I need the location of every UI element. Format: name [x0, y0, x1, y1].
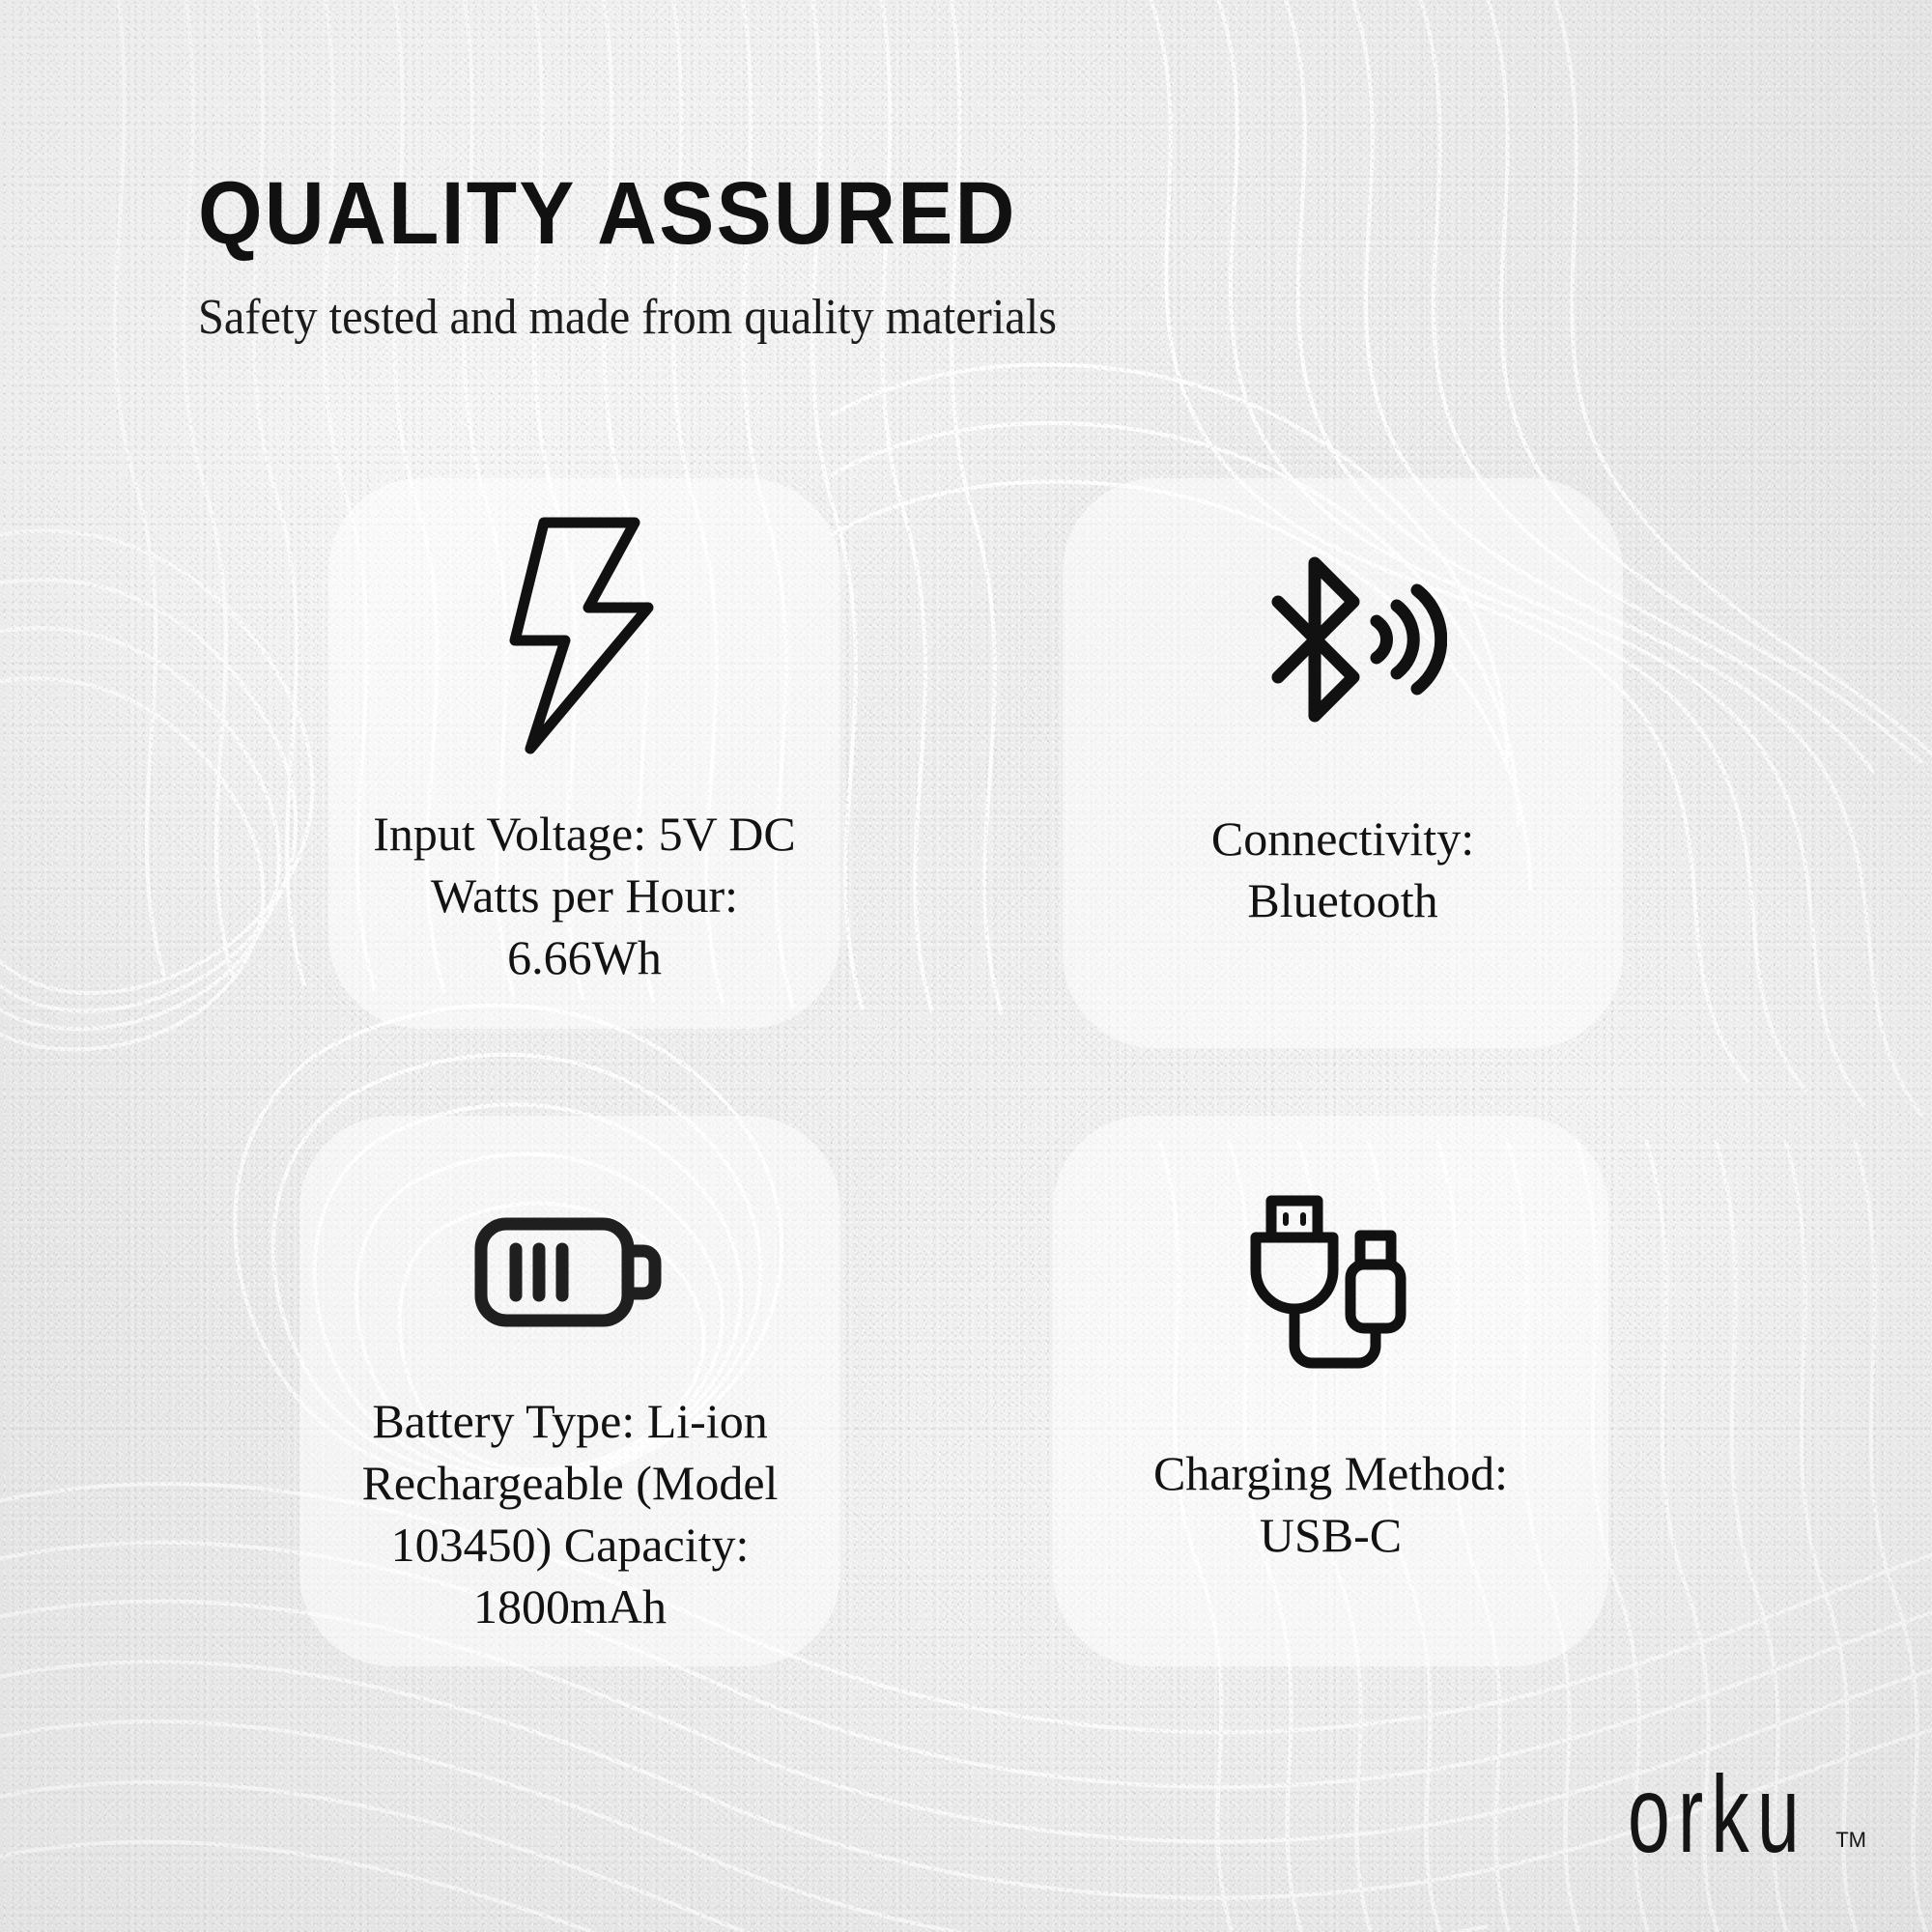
spec-card-text: Input Voltage: 5V DC Watts per Hour: 6.6…	[373, 803, 796, 988]
spec-card-text: Connectivity: Bluetooth	[1211, 808, 1474, 931]
page-title: QUALITY ASSURED	[198, 169, 1057, 258]
battery-icon	[473, 1212, 667, 1332]
brand-logo-wordmark: orku	[1628, 1766, 1807, 1864]
spec-card-text: Charging Method: USB-C	[1153, 1442, 1508, 1566]
spec-card-charging-method: Charging Method: USB-C	[1053, 1116, 1608, 1666]
usb-cable-icon	[1236, 1193, 1426, 1375]
spec-card-grid: Input Voltage: 5V DC Watts per Hour: 6.6…	[290, 478, 1662, 1666]
brand-logo: orku TM	[1628, 1781, 1866, 1864]
spec-card-battery: Battery Type: Li-ion Rechargeable (Model…	[299, 1116, 840, 1666]
spec-card-input-voltage: Input Voltage: 5V DC Watts per Hour: 6.6…	[328, 478, 840, 1029]
lightning-bolt-icon	[507, 515, 662, 756]
infographic-page: QUALITY ASSURED Safety tested and made f…	[0, 0, 1932, 1932]
page-subtitle: Safety tested and made from quality mate…	[198, 293, 1057, 343]
spec-card-text: Battery Type: Li-ion Rechargeable (Model…	[362, 1390, 779, 1637]
spec-card-connectivity: Connectivity: Bluetooth	[1063, 478, 1623, 1048]
bluetooth-icon	[1239, 548, 1447, 736]
header: QUALITY ASSURED Safety tested and made f…	[198, 169, 1122, 343]
trademark-symbol: TM	[1835, 1828, 1866, 1853]
